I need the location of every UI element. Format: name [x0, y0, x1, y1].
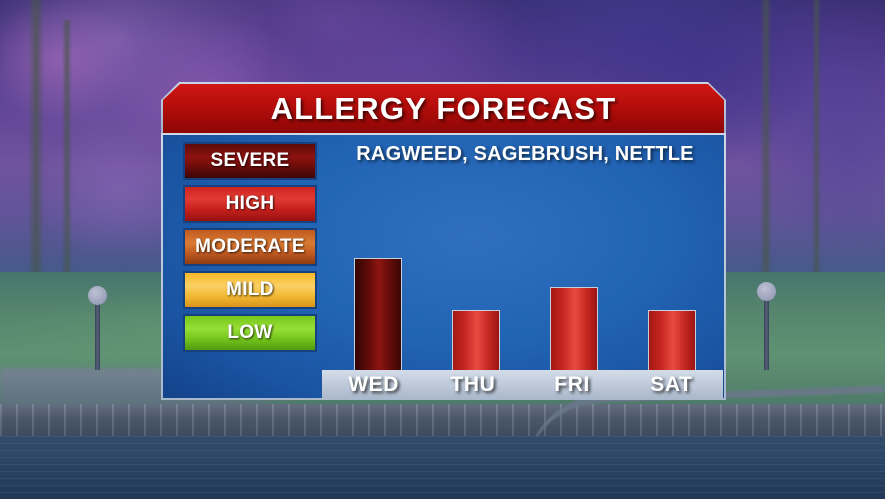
legend-label-high: HIGH: [226, 193, 275, 215]
forecast-panel-border: SEVERE HIGH MODERATE MILD LOW RAGWEED, S…: [161, 133, 726, 400]
allergy-forecast-graphic: ALLERGY FORECAST SEVERE HIGH MODERATE MI…: [161, 82, 726, 400]
title-banner: ALLERGY FORECAST: [163, 84, 724, 133]
day-label-wed: WED: [324, 373, 423, 397]
severity-legend: SEVERE HIGH MODERATE MILD LOW: [183, 142, 317, 357]
day-label-fri: FRI: [523, 373, 622, 397]
legend-label-mild: MILD: [226, 279, 274, 301]
day-axis-border: WEDTHUFRISAT: [322, 370, 723, 398]
day-label-sat: SAT: [622, 373, 721, 397]
legend-label-low: LOW: [227, 322, 272, 344]
day-axis: WEDTHUFRISAT: [324, 372, 721, 398]
legend-label-moderate: MODERATE: [195, 236, 305, 258]
legend-item-severe: SEVERE: [183, 142, 317, 180]
bar-chart-plot-area: [329, 171, 721, 398]
legend-item-low: LOW: [183, 314, 317, 352]
bar-series: [329, 171, 721, 398]
legend-label-severe: SEVERE: [211, 150, 290, 172]
page-title: ALLERGY FORECAST: [271, 91, 617, 127]
forecast-panel: SEVERE HIGH MODERATE MILD LOW RAGWEED, S…: [163, 135, 724, 398]
legend-item-high: HIGH: [183, 185, 317, 223]
legend-item-moderate: MODERATE: [183, 228, 317, 266]
legend-item-mild: MILD: [183, 271, 317, 309]
allergen-subtitle: RAGWEED, SAGEBRUSH, NETTLE: [329, 143, 721, 166]
day-label-thu: THU: [423, 373, 522, 397]
